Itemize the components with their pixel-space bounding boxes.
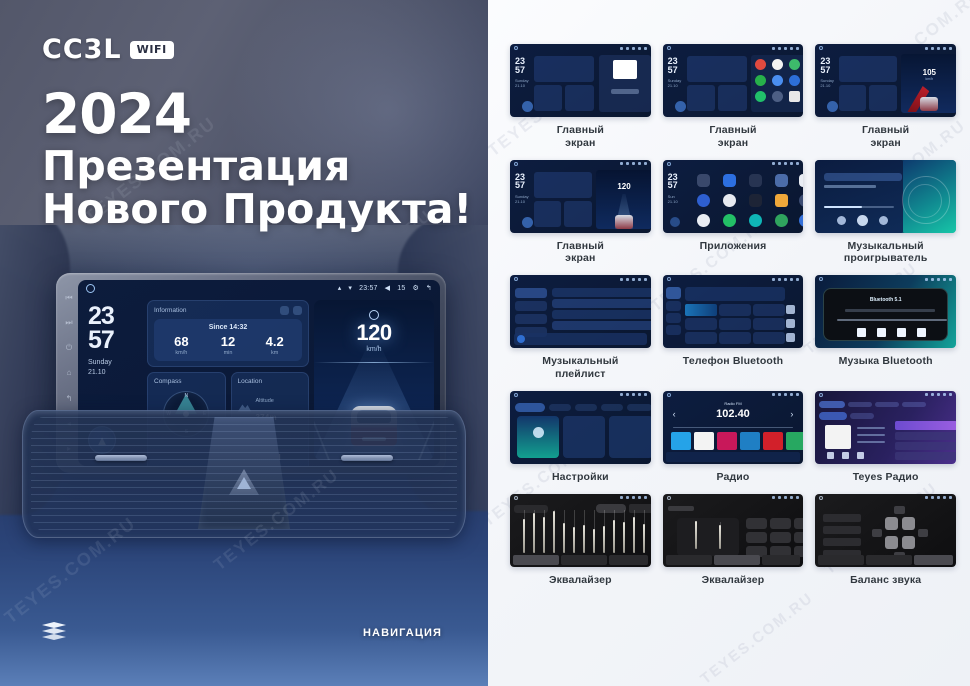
gallery-caption: Баланс звука (850, 574, 921, 587)
thumb-status-bar (815, 275, 956, 283)
wifi-icon: ▾ (348, 284, 352, 292)
prev-track-icon[interactable]: ⏮ (65, 293, 74, 302)
gallery-item[interactable]: Музыкальныйпроигрыватель (815, 160, 956, 266)
thumbnail-equalizer-simple[interactable] (663, 494, 804, 567)
home-icon[interactable]: ⌂ (65, 368, 74, 377)
clock-minutes: 57 (88, 328, 142, 352)
navigation-label: НАВИГАЦИЯ (363, 627, 442, 639)
product-logo: CC3L WIFI (42, 34, 174, 65)
thumb-status-bar (510, 494, 651, 502)
clock-hours: 23 (88, 304, 142, 328)
gallery-item[interactable]: 2357 Sunday21.10 120 Главныйэкран (510, 160, 651, 266)
clock-day: Sunday (88, 358, 142, 367)
thumbnail-settings[interactable] (510, 391, 651, 464)
bluetooth-badge: Bluetooth 5.1 (815, 297, 956, 303)
thumb-speed-unit: km/h (901, 77, 956, 81)
refresh-icon[interactable] (280, 306, 289, 315)
radio-prev-icon[interactable]: ‹ (673, 409, 676, 419)
back-icon[interactable]: ↰ (65, 394, 74, 403)
location-title: Location (238, 378, 263, 385)
gallery-item[interactable]: Баланс звука (815, 494, 956, 587)
gallery-caption: Музыкальныйплейлист (542, 355, 618, 381)
mini-clock: 2357 (820, 57, 830, 74)
stat-value: 4.2 (251, 335, 298, 348)
thumbnail-bt-music[interactable]: Bluetooth 5.1 (815, 275, 956, 348)
thumbnail-teyes-radio[interactable] (815, 391, 956, 464)
mini-date: Sunday21.10 (820, 78, 834, 88)
altitude-label: Altitude (256, 398, 274, 404)
logo-text: CC3L (42, 34, 122, 65)
gallery-caption: Главныйэкран (557, 124, 604, 150)
status-bar-right: ▴ ▾ 23:57 ◀ 15 ⚙ ↰ (338, 284, 432, 292)
thumb-status-bar (815, 391, 956, 399)
thumbnail-playlist[interactable] (510, 275, 651, 348)
thumb-status-bar (510, 160, 651, 168)
gallery-item[interactable]: 2357 Sun21.10 Приложения (663, 160, 804, 266)
mini-date: Sunday21.10 (668, 78, 682, 88)
thumb-status-bar (663, 160, 804, 168)
gallery-caption: Настройки (552, 471, 609, 484)
gallery-item[interactable]: Bluetooth 5.1 Музыка Bluetooth (815, 275, 956, 381)
stat-time: 12 min (205, 335, 252, 356)
dashboard-air-vent (22, 410, 466, 538)
speed-value: 120 (314, 322, 434, 344)
headlight-icon (369, 310, 379, 320)
radio-frequency: 102.40 (663, 408, 804, 420)
thumbnail-home-apps[interactable]: 2357 Sunday21.10 (663, 44, 804, 117)
since-label: Since 14:32 (158, 324, 298, 331)
gps-icon: ▴ (338, 284, 342, 292)
thumb-status-bar (663, 44, 804, 52)
title-line-2: Нового Продукта! (42, 188, 472, 231)
title-year: 2024 (42, 86, 472, 143)
gallery-item[interactable]: Teyes Радио (815, 391, 956, 484)
thumbnail-radio[interactable]: Radio FM 102.40 ‹ › (663, 391, 804, 464)
gallery-caption: Главныйэкран (557, 240, 604, 266)
stat-distance: 4.2 km (251, 335, 298, 356)
gallery-caption: Teyes Радио (853, 471, 919, 484)
next-track-icon[interactable]: ⏭ (65, 318, 74, 327)
home-icon[interactable] (86, 284, 95, 293)
gallery-item[interactable]: 2357 Sunday21.10 Главныйэкран (663, 44, 804, 150)
mini-clock: 2357 (515, 57, 525, 74)
radio-next-icon[interactable]: › (790, 409, 793, 419)
horizon-line (314, 362, 434, 363)
information-widget[interactable]: Information Since 14:32 68 km/h (147, 300, 309, 367)
gallery-caption: Эквалайзер (702, 574, 765, 587)
clock-date: 21.10 (88, 368, 142, 377)
vent-slider-right[interactable] (341, 455, 393, 461)
vent-center-pod (198, 417, 290, 529)
hazard-lights-button[interactable] (229, 469, 259, 495)
mini-clock: 2357 (515, 173, 525, 190)
mini-date: Sunday21.10 (515, 78, 529, 88)
information-header: Information (154, 306, 302, 315)
gallery-grid: 2357 Sunday21.10 Главныйэкран 2357 Sunda… (510, 44, 956, 586)
hero-panel: TEYES.COM.RU TEYES.COM.RU CC3L WIFI 2024… (0, 0, 488, 686)
expand-icon[interactable] (293, 306, 302, 315)
gallery-caption: Музыка Bluetooth (839, 355, 933, 368)
radio-band-label: Radio FM (663, 401, 804, 406)
gallery-caption: Телефон Bluetooth (683, 355, 783, 368)
thumbnail-equalizer-bands[interactable] (510, 494, 651, 567)
information-title: Information (154, 307, 187, 314)
gallery-item[interactable]: Музыкальныйплейлист (510, 275, 651, 381)
gallery-caption: Радио (716, 471, 749, 484)
gallery-caption: Приложения (700, 240, 767, 253)
thumbnail-apps[interactable]: 2357 Sun21.10 (663, 160, 804, 233)
gallery-item[interactable]: Эквалайзер (663, 494, 804, 587)
thumbnail-home-nav[interactable]: 2357 Sunday21.10 120 (510, 160, 651, 233)
page-title: 2024 Презентация Нового Продукта! (42, 86, 472, 230)
thumb-speed-value: 120 (596, 182, 651, 191)
compass-title: Compass (154, 378, 181, 385)
screenshot-gallery: TEYES.COM.RU TEYES.COM.RU TEYES.COM.RU T… (488, 0, 970, 686)
information-body: Since 14:32 68 km/h 12 min (154, 319, 302, 361)
thumb-status-bar (510, 44, 651, 52)
thumb-status-bar (663, 494, 804, 502)
gallery-caption: Музыкальныйпроигрыватель (844, 240, 928, 266)
mini-date: Sun21.10 (668, 194, 678, 204)
gallery-item[interactable]: Телефон Bluetooth (663, 275, 804, 381)
gallery-item[interactable]: 2357 Sunday21.10 Главныйэкран (510, 44, 651, 150)
gallery-item[interactable]: 2357 Sunday21.10 105 km/h Главныйэкран (815, 44, 956, 150)
gallery-caption: Главныйэкран (862, 124, 909, 150)
thumbnail-home-drive[interactable]: 2357 Sunday21.10 105 km/h (815, 44, 956, 117)
thumbnail-sound-balance[interactable] (815, 494, 956, 567)
mini-date: Sunday21.10 (515, 194, 529, 204)
thumb-status-bar (510, 275, 651, 283)
watermark: TEYES.COM.RU (697, 589, 816, 686)
gallery-caption: Эквалайзер (549, 574, 612, 587)
mini-clock: 2357 (668, 173, 678, 190)
thumb-speed-value: 105 (901, 68, 956, 77)
compass-north: N (184, 393, 188, 399)
title-line-1: Презентация (42, 145, 472, 188)
stat-value: 68 (158, 335, 205, 348)
back-icon[interactable]: ↰ (426, 284, 432, 292)
stat-speed: 68 km/h (158, 335, 205, 356)
compass-header: Compass (154, 378, 219, 385)
volume-icon: ◀ (385, 284, 391, 292)
gallery-caption: Главныйэкран (709, 124, 756, 150)
thumbnail-bt-phone[interactable] (663, 275, 804, 348)
thumb-status-bar (663, 391, 804, 399)
thumb-status-bar (815, 494, 956, 502)
stat-unit: km/h (158, 350, 205, 356)
thumb-status-bar (815, 44, 956, 52)
car-dashboard: ⏮ ⏭ ⏻ ⌂ ↰ ◂ ▸ ▴ ▾ 23:57 ◀ 15 ⚙ (0, 225, 488, 686)
stat-unit: km (251, 350, 298, 356)
status-bar: ▴ ▾ 23:57 ◀ 15 ⚙ ↰ (78, 280, 440, 296)
status-time: 23:57 (359, 285, 378, 292)
location-header: Location (238, 378, 303, 385)
thumbnail-music-player[interactable] (815, 160, 956, 233)
mini-clock: 2357 (668, 57, 678, 74)
gallery-item[interactable]: Настройки (510, 391, 651, 484)
vent-slider-left[interactable] (95, 455, 147, 461)
stat-value: 12 (205, 335, 252, 348)
gallery-item[interactable]: Radio FM 102.40 ‹ › Радио (663, 391, 804, 484)
speed-unit: km/h (314, 346, 434, 353)
trip-stats: 68 km/h 12 min 4.2 km (158, 335, 298, 356)
information-actions[interactable] (280, 306, 302, 315)
thumb-status-bar (510, 391, 651, 399)
settings-icon[interactable]: ⚙ (412, 284, 418, 292)
thumb-status-bar (663, 275, 804, 283)
volume-level: 15 (397, 285, 405, 292)
layers-icon (42, 622, 66, 642)
gallery-item[interactable]: Эквалайзер (510, 494, 651, 587)
power-icon[interactable]: ⏻ (65, 343, 74, 352)
stat-unit: min (205, 350, 252, 356)
thumbnail-home-media[interactable]: 2357 Sunday21.10 (510, 44, 651, 117)
wifi-badge: WIFI (130, 41, 174, 59)
